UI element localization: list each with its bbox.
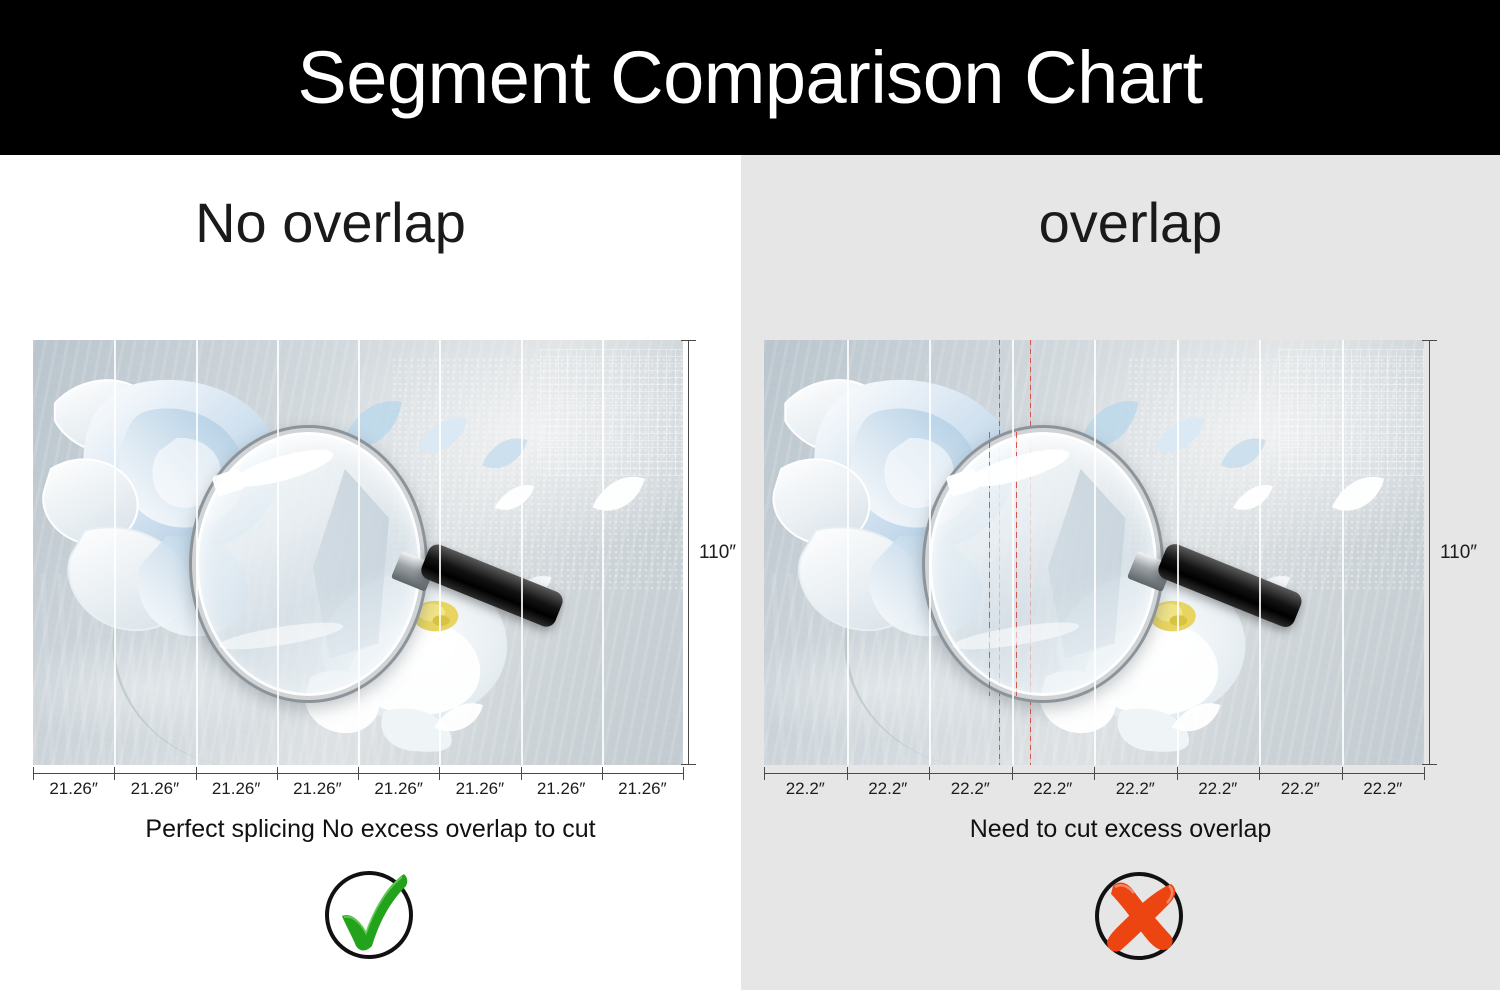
page-title: Segment Comparison Chart: [297, 41, 1202, 115]
title-banner: Segment Comparison Chart: [0, 0, 1500, 155]
segment-label: 21.26″: [358, 779, 439, 799]
grid-texture: [1279, 349, 1424, 477]
segment-label: 22.2″: [1342, 779, 1425, 799]
mural-image-no-overlap: [33, 340, 683, 765]
segment-divider: [439, 340, 441, 765]
mural-figure-overlap: 110″ 22.2″ 22.2″ 22.2″: [764, 340, 1424, 765]
mural-figure-no-overlap: 110″ 21.26″ 21.26″: [33, 340, 683, 765]
segment-divider: [602, 340, 604, 765]
magnifying-glass: [189, 425, 501, 689]
segment-divider: [1094, 340, 1096, 765]
segment-label: 22.2″: [1094, 779, 1177, 799]
segment-divider: [847, 340, 849, 765]
floating-petal-5: [1325, 468, 1391, 528]
height-label-no-overlap: 110″: [699, 542, 736, 564]
segment-divider: [929, 340, 931, 765]
magnifying-glass: [922, 425, 1239, 689]
segment-label: 21.26″: [33, 779, 114, 799]
lens-highlight-1: [965, 442, 1072, 494]
lens-highlight-1: [231, 442, 337, 493]
segment-label: 21.26″: [277, 779, 358, 799]
segment-divider: [1012, 340, 1014, 765]
comparison-panels: No overlap: [0, 155, 1500, 990]
panel-overlap: overlap: [741, 155, 1500, 990]
verdict-no-overlap: [0, 860, 811, 970]
ruler-cap-top: [1422, 340, 1437, 341]
segment-divider: [1342, 340, 1344, 765]
segment-label: 21.26″: [196, 779, 277, 799]
ruler-cap-bottom: [1422, 764, 1437, 765]
ruler-tick: [683, 767, 684, 780]
segment-label: 22.2″: [847, 779, 930, 799]
panel-no-overlap: No overlap: [0, 155, 741, 990]
floating-petal-5: [586, 468, 651, 528]
caption-no-overlap: Perfect splicing No excess overlap to cu…: [0, 815, 741, 844]
segment-divider: [114, 340, 116, 765]
ruler-tick: [1424, 767, 1425, 780]
segment-label: 22.2″: [929, 779, 1012, 799]
floating-petal-7: [1160, 693, 1233, 748]
magnifier-lens: [189, 425, 428, 703]
segment-label: 22.2″: [764, 779, 847, 799]
magnifier-lens: [922, 425, 1164, 703]
caption-overlap: Need to cut excess overlap: [741, 815, 1500, 844]
segment-label: 22.2″: [1177, 779, 1260, 799]
segment-label: 22.2″: [1259, 779, 1342, 799]
segment-divider: [521, 340, 523, 765]
segment-label: 21.26″: [114, 779, 195, 799]
height-label-overlap: 110″: [1440, 542, 1477, 564]
segment-width-labels-overlap: 22.2″ 22.2″ 22.2″ 22.2″ 22.2″ 22.2″ 22.2…: [764, 779, 1424, 799]
segment-divider: [1259, 340, 1261, 765]
ruler-cap-top: [681, 340, 696, 341]
cross-mark-icon: [1083, 860, 1199, 972]
ruler-line: [1429, 340, 1430, 765]
panel-heading-overlap: overlap: [741, 195, 1500, 251]
panel-heading-no-overlap: No overlap: [0, 195, 741, 251]
verdict-overlap: [741, 860, 1500, 972]
segment-divider: [358, 340, 360, 765]
grid-texture: [540, 349, 683, 477]
mural-image-overlap: [764, 340, 1424, 765]
lens-highlight-2: [211, 468, 245, 497]
segment-label: 21.26″: [521, 779, 602, 799]
segment-label: 22.2″: [1012, 779, 1095, 799]
check-mark-icon: [316, 860, 426, 970]
segment-divider: [196, 340, 198, 765]
segment-divider: [277, 340, 279, 765]
ruler-cap-bottom: [681, 764, 696, 765]
segment-divider: [1177, 340, 1179, 765]
ruler-line: [688, 340, 689, 765]
segment-width-labels-no-overlap: 21.26″ 21.26″ 21.26″ 21.26″ 21.26″ 21.26…: [33, 779, 683, 799]
lens-highlight-2: [945, 467, 980, 496]
segment-label: 21.26″: [602, 779, 683, 799]
segment-comparison-page: Segment Comparison Chart No overlap: [0, 0, 1500, 990]
segment-label: 21.26″: [439, 779, 520, 799]
floating-petal-7: [423, 693, 495, 748]
